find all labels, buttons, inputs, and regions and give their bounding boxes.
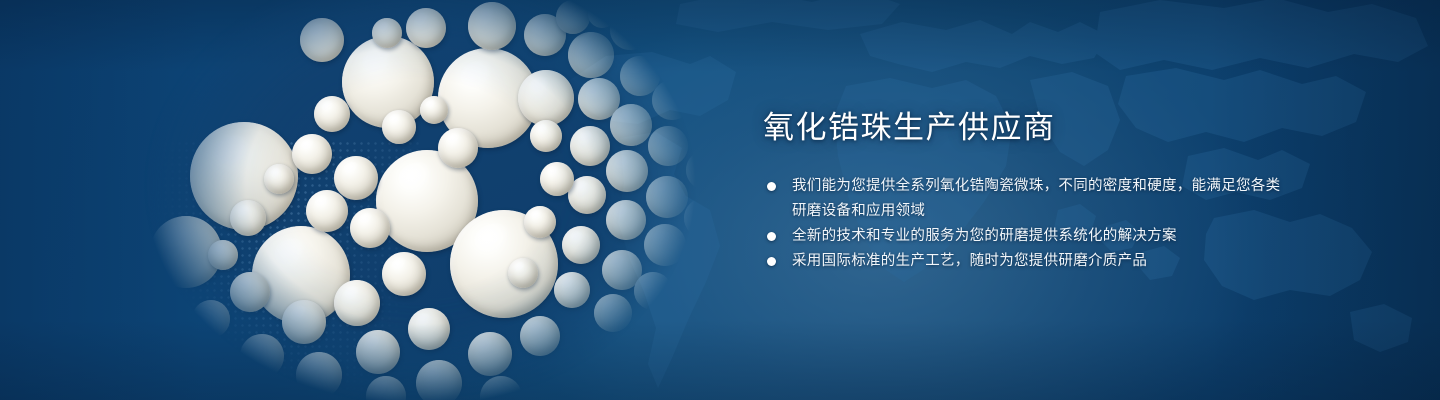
zirconia-beads-photo: [120, 0, 740, 400]
page-title: 氧化锆珠生产供应商: [763, 108, 1283, 148]
bullet-dot-icon: [767, 232, 776, 241]
list-item: 我们能为您提供全系列氧化锆陶瓷微珠，不同的密度和硬度，能满足您各类研磨设备和应用…: [763, 174, 1283, 224]
list-item: 全新的技术和专业的服务为您的研磨提供系统化的解决方案: [763, 224, 1283, 249]
bullet-dot-icon: [767, 182, 776, 191]
list-item-label: 采用国际标准的生产工艺，随时为您提供研磨介质产品: [792, 253, 1147, 269]
list-item-label: 全新的技术和专业的服务为您的研磨提供系统化的解决方案: [792, 228, 1177, 244]
hero-banner: 氧化锆珠生产供应商 我们能为您提供全系列氧化锆陶瓷微珠，不同的密度和硬度，能满足…: [0, 0, 1440, 400]
list-item-label: 我们能为您提供全系列氧化锆陶瓷微珠，不同的密度和硬度，能满足您各类研磨设备和应用…: [792, 178, 1280, 219]
bullet-dot-icon: [767, 257, 776, 266]
banner-content: 氧化锆珠生产供应商 我们能为您提供全系列氧化锆陶瓷微珠，不同的密度和硬度，能满足…: [763, 108, 1283, 274]
list-item: 采用国际标准的生产工艺，随时为您提供研磨介质产品: [763, 249, 1283, 274]
feature-list: 我们能为您提供全系列氧化锆陶瓷微珠，不同的密度和硬度，能满足您各类研磨设备和应用…: [763, 174, 1283, 274]
